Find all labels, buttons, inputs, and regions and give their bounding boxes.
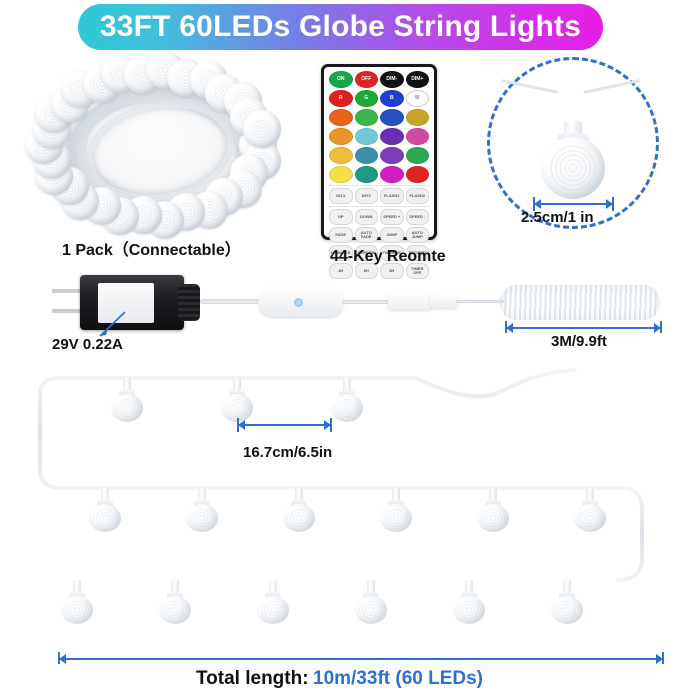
remote-key-r[interactable]: R bbox=[329, 90, 353, 107]
product-infographic: 33FT 60LEDs Globe String Lights 1 Pack（C… bbox=[0, 0, 679, 693]
remote-power-row[interactable]: ONOFFDIM-DIM+ bbox=[329, 71, 429, 88]
adapter-spec-label bbox=[98, 283, 154, 323]
remote-key-color[interactable] bbox=[406, 128, 430, 145]
adapter-strain-relief bbox=[178, 284, 200, 321]
plug-prong-top bbox=[52, 289, 82, 293]
remote-key-dim-[interactable]: DIM- bbox=[380, 71, 404, 88]
remote-key-color[interactable] bbox=[355, 166, 379, 183]
string-bulb bbox=[573, 488, 607, 532]
bulb-globe bbox=[61, 596, 93, 624]
remote-key-flash2[interactable]: FLASH2 bbox=[406, 188, 430, 204]
remote-key-dim-[interactable]: DIM+ bbox=[406, 71, 430, 88]
total-length-dimension-arrow bbox=[60, 658, 662, 660]
remote-key-color[interactable] bbox=[380, 128, 404, 145]
remote-key-up[interactable]: UP bbox=[329, 209, 353, 225]
total-length-label: Total length: bbox=[196, 668, 309, 689]
controller-to-joint-wire bbox=[342, 300, 390, 304]
lead-length-dimension-arrow bbox=[507, 327, 660, 329]
coiled-string-lights-photo bbox=[4, 56, 304, 234]
remote-color-grid[interactable]: RGBW bbox=[329, 90, 429, 183]
power-adapter bbox=[52, 275, 202, 330]
bulb-globe bbox=[574, 504, 606, 532]
string-bulb bbox=[158, 580, 192, 624]
remote-key-color[interactable] bbox=[355, 109, 379, 126]
bulb-globe bbox=[453, 596, 485, 624]
bulb-globe bbox=[477, 504, 509, 532]
bulb-size-label: 2.5cm/1 in bbox=[521, 209, 594, 226]
bulb-globe bbox=[283, 504, 315, 532]
adapter-rating-label: 29V 0.22A bbox=[52, 336, 123, 353]
controller-led-indicator bbox=[294, 298, 303, 307]
remote-key-flash1[interactable]: FLASH1 bbox=[380, 188, 404, 204]
pack-caption: 1 Pack（Connectable） bbox=[62, 236, 241, 260]
remote-key-down[interactable]: DOWN bbox=[355, 209, 379, 225]
joint-to-coil-wire bbox=[456, 300, 504, 303]
string-bulb bbox=[550, 580, 584, 624]
remote-key-jump[interactable]: JUMP bbox=[380, 227, 404, 243]
lead-length-label: 3M/9.9ft bbox=[551, 333, 607, 350]
adapter-to-controller-wire bbox=[200, 299, 262, 304]
bulb-globe bbox=[380, 504, 412, 532]
inline-controller-box bbox=[258, 287, 344, 317]
remote-key-color[interactable] bbox=[406, 109, 430, 126]
bulb-globe bbox=[551, 596, 583, 624]
bulb-globe bbox=[159, 596, 191, 624]
coil-bulb bbox=[243, 110, 281, 148]
bulb-globe bbox=[355, 596, 387, 624]
string-bulb bbox=[88, 488, 122, 532]
bulb-globe bbox=[111, 394, 143, 422]
bulb-globe bbox=[186, 504, 218, 532]
string-bulb bbox=[60, 580, 94, 624]
remote-key-diy1[interactable]: DIY1 bbox=[329, 188, 353, 204]
string-bulb bbox=[256, 580, 290, 624]
string-bulb bbox=[476, 488, 510, 532]
remote-key-color[interactable] bbox=[380, 166, 404, 183]
connector-joint bbox=[388, 292, 432, 310]
remote-key-fade[interactable]: FADE bbox=[329, 227, 353, 243]
remote-control[interactable]: ONOFFDIM-DIM+ RGBW DIY1DIY2FLASH1FLASH2 … bbox=[321, 64, 437, 240]
plug-prong-bottom bbox=[52, 309, 82, 313]
bulb-globe bbox=[331, 394, 363, 422]
bulb-spacing-dimension-arrow bbox=[239, 424, 330, 426]
string-bulb bbox=[452, 580, 486, 624]
remote-key-b[interactable]: B bbox=[380, 90, 404, 107]
total-length-caption: Total length: 10m/33ft (60 LEDs) bbox=[0, 668, 679, 690]
page-title: 33FT 60LEDs Globe String Lights bbox=[100, 10, 581, 44]
string-bulb bbox=[330, 378, 364, 422]
remote-key-color[interactable] bbox=[380, 147, 404, 164]
bulb-globe bbox=[541, 137, 605, 199]
remote-key-off[interactable]: OFF bbox=[355, 71, 379, 88]
remote-key-color[interactable] bbox=[355, 128, 379, 145]
bulb-size-detail: 2.5cm/1 in bbox=[487, 57, 659, 229]
remote-key-color[interactable] bbox=[406, 147, 430, 164]
remote-function-grid[interactable]: UPDOWNSPEED +SPEED -FADEAUTO FADEJUMPAUT… bbox=[329, 206, 429, 279]
remote-mode-row[interactable]: DIY1DIY2FLASH1FLASH2 bbox=[329, 185, 429, 204]
remote-key-on[interactable]: ON bbox=[329, 71, 353, 88]
bulb-size-dimension-arrow bbox=[535, 203, 612, 205]
string-bulb bbox=[379, 488, 413, 532]
remote-key-color[interactable] bbox=[380, 109, 404, 126]
remote-key-color[interactable] bbox=[329, 109, 353, 126]
detail-globe-bulb bbox=[537, 113, 609, 199]
remote-caption: 44-Key Reomte bbox=[330, 248, 446, 266]
remote-key-color[interactable] bbox=[406, 166, 430, 183]
remote-key-color[interactable] bbox=[355, 147, 379, 164]
remote-key-auto-fade[interactable]: AUTO FADE bbox=[355, 227, 379, 243]
bulb-globe bbox=[89, 504, 121, 532]
remote-key-color[interactable] bbox=[329, 128, 353, 145]
remote-key-auto-jump[interactable]: AUTO JUMP bbox=[406, 227, 430, 243]
lead-wire-bundle bbox=[500, 285, 660, 320]
string-bulb bbox=[282, 488, 316, 532]
bulb-globe bbox=[257, 596, 289, 624]
remote-key-speed-[interactable]: SPEED + bbox=[380, 209, 404, 225]
string-bulb bbox=[110, 378, 144, 422]
total-length-value: 10m/33ft (60 LEDs) bbox=[313, 668, 483, 689]
connector-joint-secondary bbox=[430, 294, 458, 308]
title-banner: 33FT 60LEDs Globe String Lights bbox=[78, 4, 603, 50]
remote-key-color[interactable] bbox=[329, 166, 353, 183]
remote-key-w[interactable]: W bbox=[406, 90, 430, 107]
string-bulb bbox=[220, 378, 254, 422]
bulb-spacing-label: 16.7cm/6.5in bbox=[243, 444, 332, 461]
string-bulb bbox=[185, 488, 219, 532]
remote-key-diy2[interactable]: DIY2 bbox=[355, 188, 379, 204]
remote-key-color[interactable] bbox=[329, 147, 353, 164]
remote-key-speed-[interactable]: SPEED - bbox=[406, 209, 430, 225]
string-bulb bbox=[354, 580, 388, 624]
remote-key-g[interactable]: G bbox=[355, 90, 379, 107]
